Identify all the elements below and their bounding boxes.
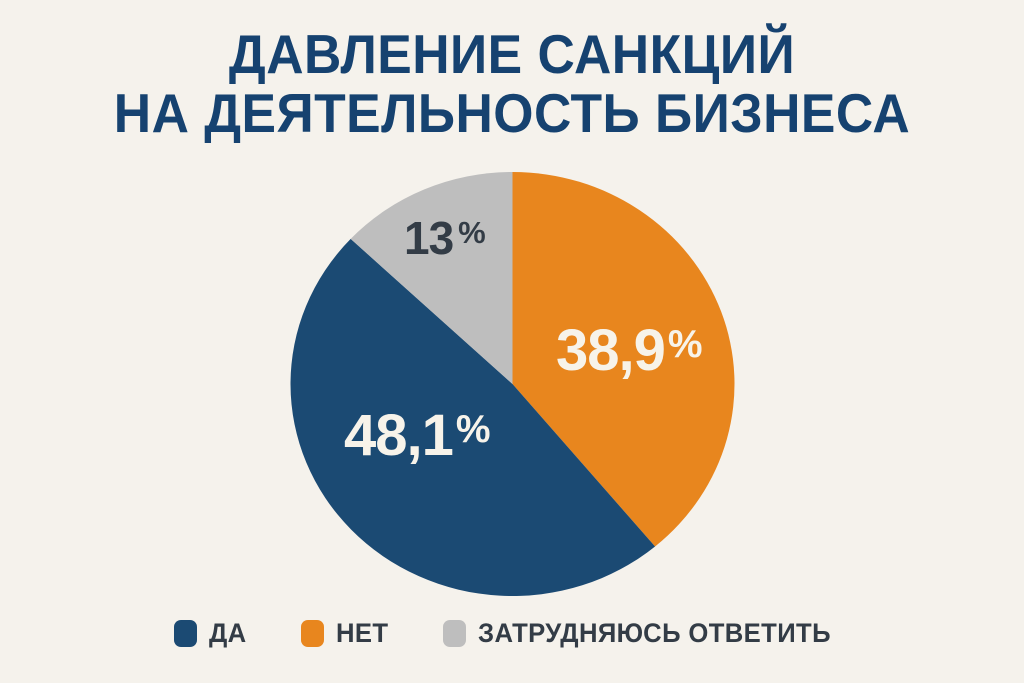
chart-legend: ДА НЕТ ЗАТРУДНЯЮСЬ ОТВЕТИТЬ (0, 618, 1024, 649)
slice-percent-sign-hard-to-answer: % (458, 217, 485, 248)
legend-label-hard-to-answer: ЗАТРУДНЯЮСЬ ОТВЕТИТЬ (478, 618, 831, 649)
legend-label-da: ДА (209, 618, 247, 649)
slice-percent-sign-nyet: % (668, 325, 702, 364)
legend-swatch-da (174, 620, 197, 647)
title-line-2: НА ДЕЯТЕЛЬНОСТЬ БИЗНЕСА (31, 85, 994, 142)
legend-item-da: ДА (174, 618, 249, 649)
legend-item-hard-to-answer: ЗАТРУДНЯЮСЬ ОТВЕТИТЬ (443, 618, 849, 649)
pie-chart (290, 172, 735, 596)
legend-item-nyet: НЕТ (301, 618, 391, 649)
title-line-1: ДАВЛЕНИЕ САНКЦИЙ (31, 26, 994, 83)
slice-label-da: 48,1 % (344, 407, 490, 465)
legend-label-nyet: НЕТ (336, 618, 388, 649)
slice-percent-sign-da: % (456, 410, 490, 449)
slice-value-da: 48,1 (344, 407, 453, 465)
legend-swatch-nyet (301, 620, 324, 647)
slice-label-nyet: 38,9 % (556, 322, 702, 380)
infographic-canvas: ДАВЛЕНИЕ САНКЦИЙ НА ДЕЯТЕЛЬНОСТЬ БИЗНЕСА… (0, 0, 1024, 683)
slice-value-hard-to-answer: 13 (404, 215, 453, 261)
page-title: ДАВЛЕНИЕ САНКЦИЙ НА ДЕЯТЕЛЬНОСТЬ БИЗНЕСА (0, 26, 1024, 142)
slice-value-nyet: 38,9 (556, 322, 665, 380)
pie-chart-svg (290, 172, 735, 596)
legend-swatch-hard-to-answer (443, 620, 466, 647)
slice-label-hard-to-answer: 13 % (404, 215, 485, 261)
